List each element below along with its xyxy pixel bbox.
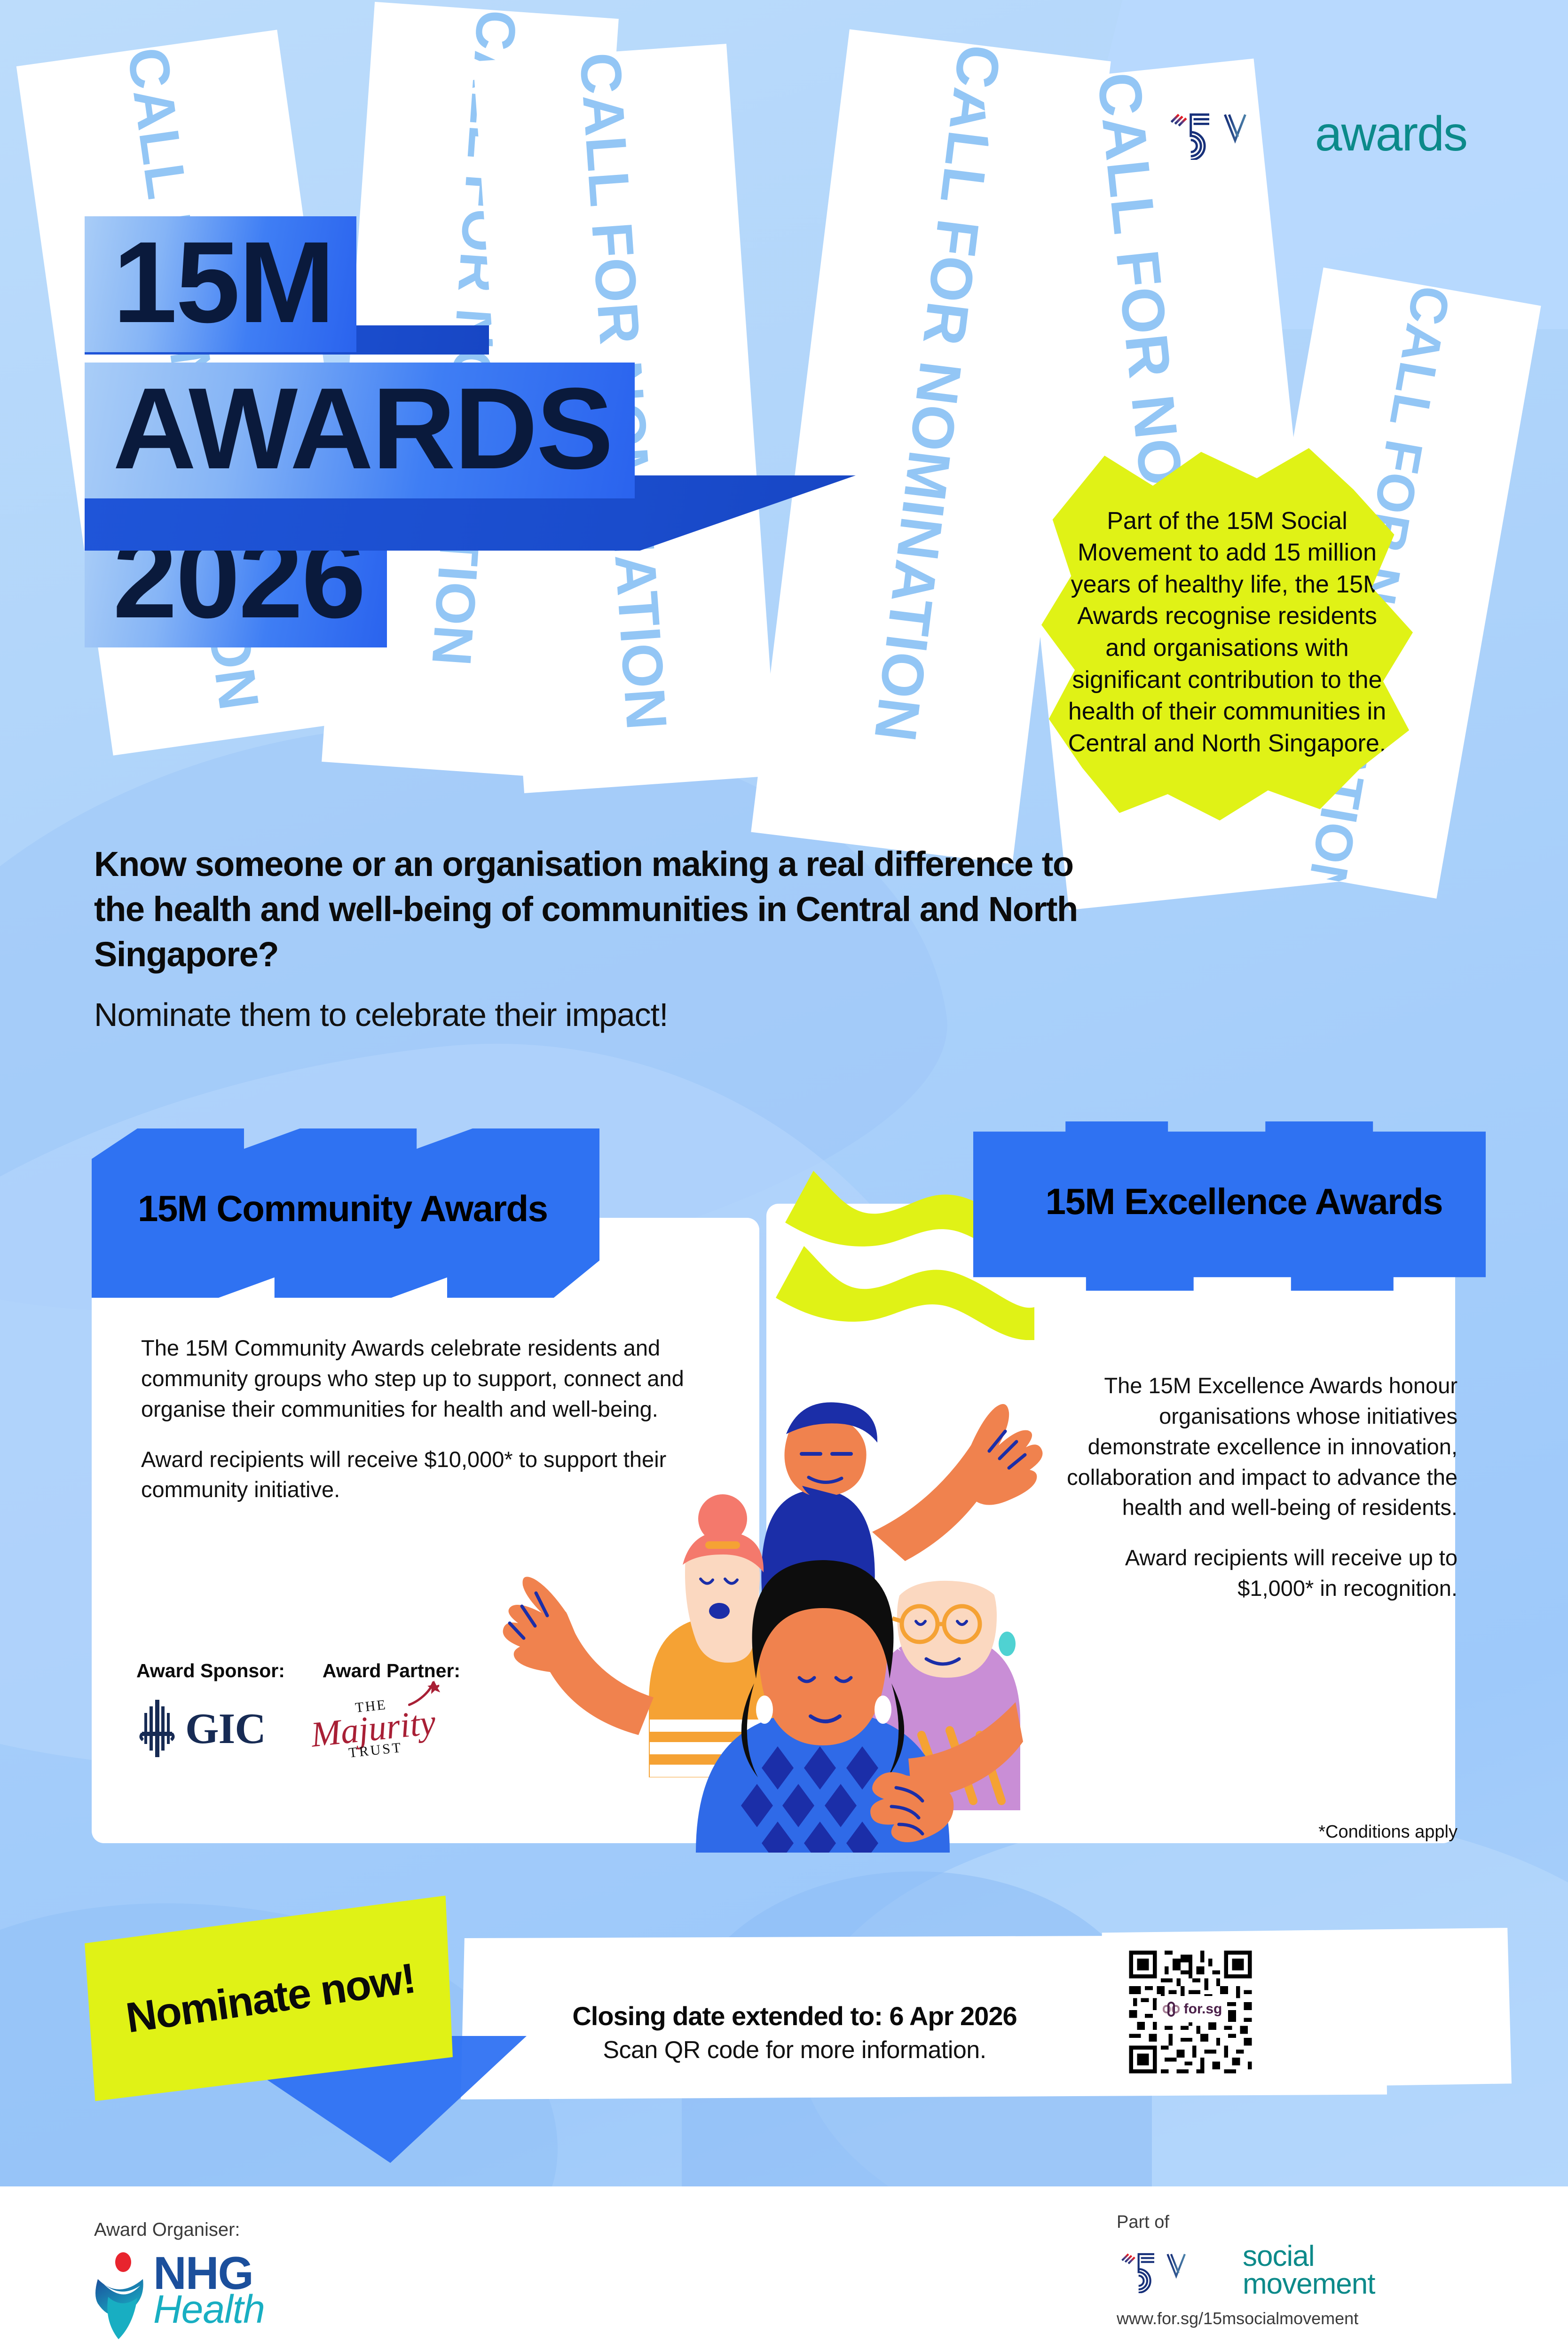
conditions-note: *Conditions apply — [1081, 1822, 1458, 1842]
cta-text-block: Closing date extended to: 6 Apr 2026 Sca… — [515, 2001, 1074, 2064]
title-line-2: AWARDS — [85, 363, 635, 498]
15m-logo-icon — [1164, 108, 1305, 160]
award-partner-label: Award Partner: — [323, 1660, 460, 1682]
excellence-awards-title: 15M Excellence Awards — [973, 1121, 1486, 1291]
footer-organiser: Award Organiser: NHG Hea — [94, 2219, 265, 2341]
gic-mark-icon — [136, 1698, 178, 1759]
poster-title: 15M AWARDS 2026 — [85, 216, 907, 647]
part-of-label: Part of — [1117, 2212, 1375, 2233]
brand-logo: awards — [1164, 108, 1467, 160]
gic-logo: GIC — [136, 1698, 266, 1759]
majurity-star-icon — [406, 1679, 441, 1708]
movement-word: movement — [1243, 2271, 1375, 2298]
blurb-text: Part of the 15M Social Movement to add 1… — [1066, 505, 1388, 760]
15m-social-movement-logo: social movement — [1117, 2243, 1375, 2298]
nhg-health-logo: NHG Health — [94, 2252, 265, 2341]
majurity-trust-logo: THE Majurity TRUST — [308, 1693, 438, 1764]
award-sponsor-label: Award Sponsor: — [136, 1660, 285, 1682]
excellence-awards-paragraph: Award recipients will receive up to $1,0… — [1063, 1543, 1458, 1604]
scan-note: Scan QR code for more information. — [515, 2036, 1074, 2064]
headline-sub: Nominate them to celebrate their impact! — [94, 994, 1119, 1036]
gic-wordmark: GIC — [185, 1704, 266, 1753]
movement-url: www.for.sg/15msocialmovement — [1117, 2309, 1375, 2328]
qr-center-logo: for.sg — [1157, 1996, 1227, 2022]
nhg-health-wordmark: Health — [153, 2291, 265, 2327]
15m-logo-icon — [1117, 2248, 1234, 2293]
excellence-awards-title-text: 15M Excellence Awards — [1046, 1182, 1442, 1221]
title-line-1: 15M — [85, 216, 356, 352]
poster-root: CALL FOR NOMINATION CALL FOR NOMINATION … — [0, 0, 1568, 2351]
headline-main: Know someone or an organisation making a… — [94, 842, 1119, 978]
forsg-link-icon — [1162, 2000, 1181, 2019]
brand-logo-word: awards — [1315, 110, 1467, 158]
closing-date: Closing date extended to: 6 Apr 2026 — [515, 2001, 1074, 2031]
nominate-now-text: Nominate now! — [123, 1954, 418, 2043]
excellence-awards-body: The 15M Excellence Awards honour organis… — [1063, 1371, 1458, 1604]
community-awards-title: 15M Community Awards — [92, 1128, 599, 1298]
community-people-illustration — [498, 1354, 1053, 1853]
nhg-figure-icon — [94, 2252, 150, 2341]
footer-movement: Part of — [1117, 2212, 1375, 2328]
social-word: social — [1243, 2243, 1375, 2271]
headline-block: Know someone or an organisation making a… — [94, 842, 1119, 1035]
community-awards-title-text: 15M Community Awards — [138, 1189, 548, 1228]
sponsors-block: Award Sponsor: Award Partner: — [136, 1660, 559, 1759]
excellence-awards-paragraph: The 15M Excellence Awards honour organis… — [1063, 1371, 1458, 1523]
forsg-wordmark: for.sg — [1184, 2001, 1222, 2017]
blurb-blob: Part of the 15M Social Movement to add 1… — [1041, 444, 1413, 820]
organiser-label: Award Organiser: — [94, 2219, 265, 2241]
footer: Award Organiser: NHG Hea — [0, 2186, 1568, 2351]
